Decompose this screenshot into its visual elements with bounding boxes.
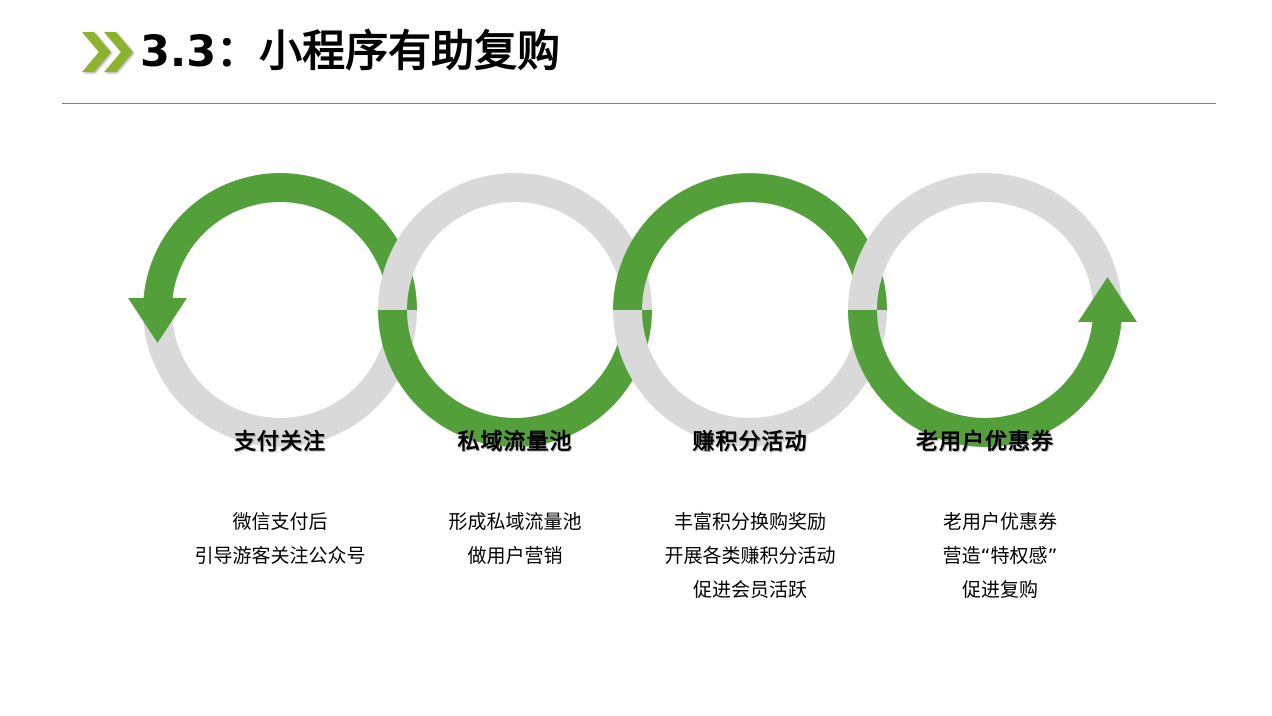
- ring-3-gray-arc: [628, 310, 873, 432]
- serpentine-cycle-diagram: 支付关注 私域流量池 赚积分活动 老用户优惠券: [0, 140, 1272, 490]
- slide-header: 3.3：小程序有助复购: [0, 0, 1272, 108]
- caption-line: 微信支付后: [150, 505, 410, 539]
- arrow-up-icon: [1078, 277, 1137, 322]
- ring-2-gray-arc: [393, 188, 638, 311]
- arrow-down-icon: [128, 298, 187, 343]
- ring-4-green-arc: [863, 310, 1108, 432]
- ring-step-3: [628, 188, 873, 433]
- caption-step-1: 微信支付后 引导游客关注公众号: [150, 505, 410, 573]
- caption-line: 形成私域流量池: [385, 505, 645, 539]
- ring-step-2: [393, 188, 638, 433]
- ring-3-green-arc: [628, 188, 873, 310]
- ring-4-gray-arc: [863, 188, 1108, 311]
- caption-line: 促进会员活跃: [620, 573, 880, 607]
- caption-line: 促进复购: [870, 573, 1130, 607]
- serpentine-svg: [0, 140, 1272, 490]
- ring-step-1: [128, 188, 403, 433]
- double-chevron-right-icon: [80, 26, 138, 78]
- ring-2-green-arc: [393, 310, 638, 432]
- caption-step-3: 丰富积分换购奖励 开展各类赚积分活动 促进会员活跃: [620, 505, 880, 607]
- caption-row: 微信支付后 引导游客关注公众号 形成私域流量池 做用户营销 丰富积分换购奖励 开…: [0, 505, 1272, 655]
- caption-line: 做用户营销: [385, 539, 645, 573]
- caption-line: 丰富积分换购奖励: [620, 505, 880, 539]
- ring-1-gray-arc: [158, 310, 403, 432]
- ring-1-green-arc: [158, 188, 403, 310]
- header-divider: [62, 103, 1216, 104]
- caption-line: 老用户优惠券: [870, 505, 1130, 539]
- caption-line: 营造“特权感”: [870, 539, 1130, 573]
- caption-line: 开展各类赚积分活动: [620, 539, 880, 573]
- ring-step-4: [863, 188, 1138, 433]
- title-row: 3.3：小程序有助复购: [80, 26, 560, 78]
- page-title: 3.3：小程序有助复购: [140, 31, 560, 74]
- caption-step-2: 形成私域流量池 做用户营销: [385, 505, 645, 573]
- caption-line: 引导游客关注公众号: [150, 539, 410, 573]
- caption-step-4: 老用户优惠券 营造“特权感” 促进复购: [870, 505, 1130, 607]
